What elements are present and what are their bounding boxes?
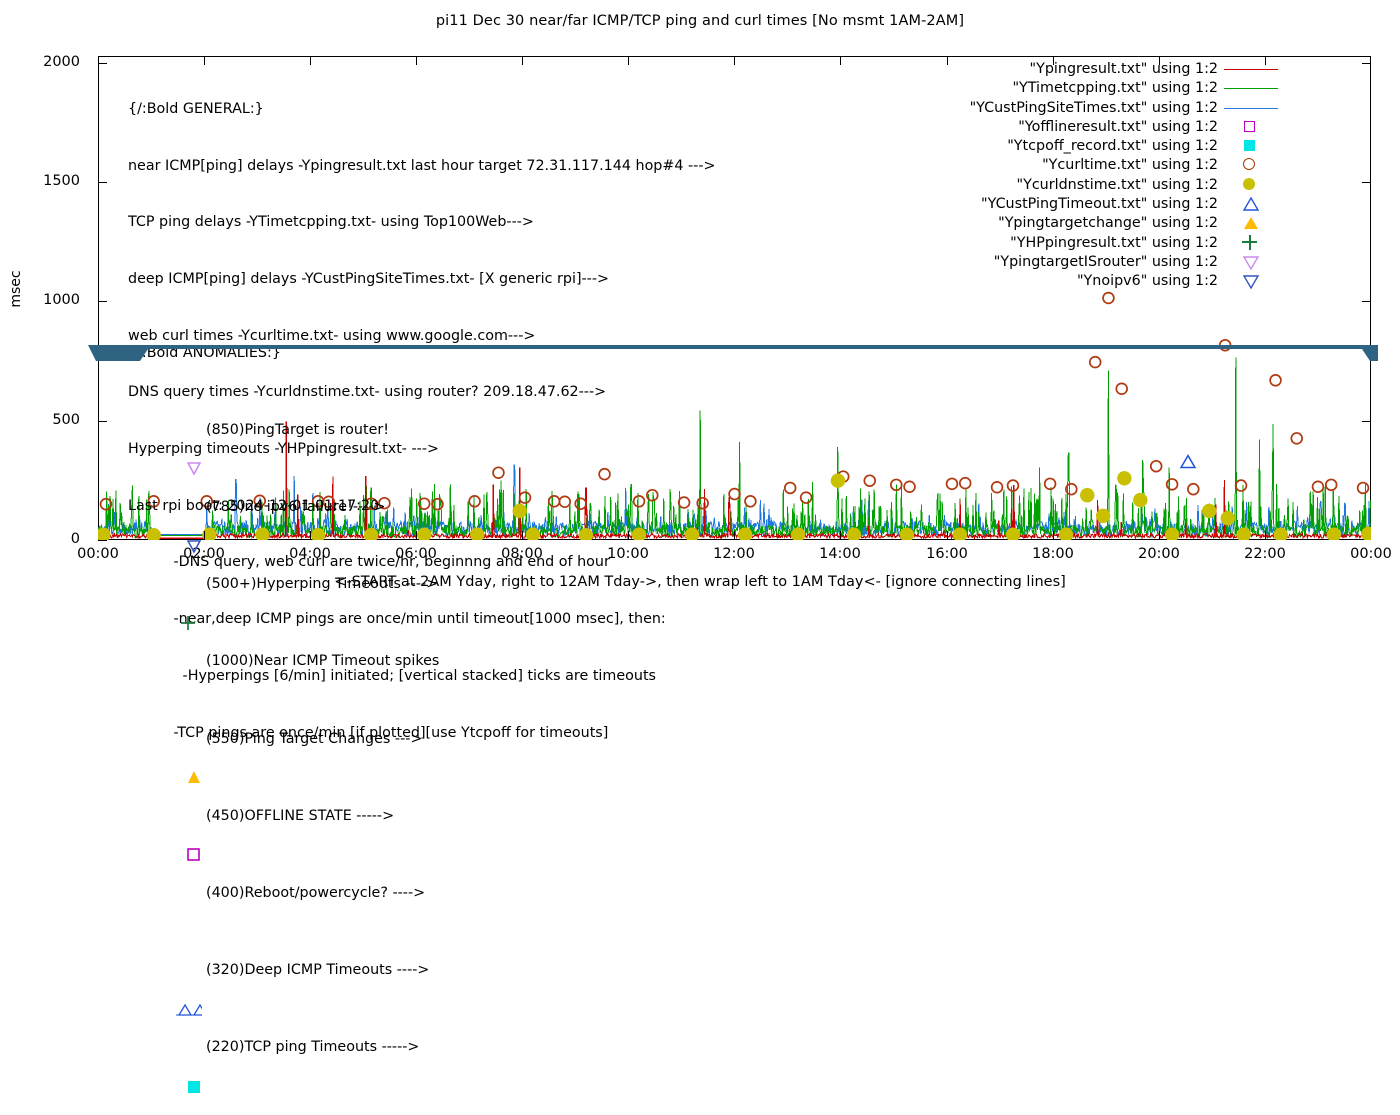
legend-key-triangle-down-open-violet [1222,253,1280,272]
anomaly-text-6: (400)Reboot/powercycle? ----> [206,884,425,903]
legend-label-5: "Ycurltime.txt" using 1:2 [1042,156,1218,175]
anomaly-row-1: (785)no ipv6 failure!----> [128,498,648,517]
y-tick-label-2000: 2000 [10,54,80,70]
anomaly-text-4: (550)Ping Target Changes ---> [206,730,422,749]
triangle-down-blue-icon [128,498,202,517]
legend-key-triangle-down-open-blue [1222,272,1280,291]
annotation-line-1: TCP ping delays -YTimetcpping.txt- using… [128,213,888,232]
y-tick-label-1500: 1500 [10,173,80,189]
legend-label-6: "Ycurldnstime.txt" using 1:2 [1017,176,1218,195]
legend-key-triangle-up-filled-orange [1222,214,1280,233]
legend-row-2: "YCustPingSiteTimes.txt" using 1:2 [940,99,1280,118]
x-tick-mark [1159,531,1160,540]
legend-label-2: "YCustPingSiteTimes.txt" using 1:2 [970,99,1218,118]
legend-label-10: "YpingtargetISrouter" using 1:2 [994,253,1218,272]
legend: "Ypingresult.txt" using 1:2 "YTimetcppin… [940,60,1280,292]
legend-key-triangle-up-open-blue [1222,195,1280,214]
legend-key-line-green [1222,79,1280,98]
anomaly-text-5: (450)OFFLINE STATE -----> [206,807,394,826]
x-tick-label-8: 16:00 [907,546,987,562]
legend-row-11: "Ynoipv6" using 1:2 [940,272,1280,291]
annotation-line-0: near ICMP[ping] delays -Ypingresult.txt … [128,157,888,176]
anomaly-row-6: (400)Reboot/powercycle? ----> [128,884,648,903]
anomaly-row-0: (850)PingTarget is router! [128,421,648,440]
square-magenta-icon [128,807,202,826]
legend-row-8: "Ypingtargetchange" using 1:2 [940,214,1280,233]
legend-label-1: "YTimetcpping.txt" using 1:2 [1012,79,1218,98]
legend-label-11: "Ynoipv6" using 1:2 [1077,272,1218,291]
legend-row-10: "YpingtargetISrouter" using 1:2 [940,253,1280,272]
x-tick-label-10: 20:00 [1119,546,1199,562]
legend-key-line-blue [1222,99,1280,118]
x-tick-label-12: 00:00 [1331,546,1400,562]
overlay-banner [88,345,1378,361]
anomaly-text-0: (850)PingTarget is router! [206,421,389,440]
legend-label-9: "YHPpingresult.txt" using 1:2 [1010,234,1218,253]
triangle-up-orange-icon [128,730,202,749]
anomaly-text-7: (320)Deep ICMP Timeouts ----> [206,961,429,980]
legend-label-4: "Ytcpoff_record.txt" using 1:2 [1007,137,1218,156]
anomaly-row-8: (220)TCP ping Timeouts -----> [128,1038,648,1057]
y-tick-label-0: 0 [10,531,80,547]
y-tick-label-1000: 1000 [10,292,80,308]
legend-key-circle-filled-olive [1222,176,1280,195]
y-tick-mark [98,540,107,541]
legend-key-plus-green [1222,234,1280,253]
legend-key-square-filled-cyan [1222,137,1280,156]
legend-row-5: "Ycurltime.txt" using 1:2 [940,156,1280,175]
legend-label-0: "Ypingresult.txt" using 1:2 [1030,60,1218,79]
general-header: {/:Bold GENERAL:} [128,100,888,119]
legend-key-line-red [1222,60,1280,79]
legend-row-0: "Ypingresult.txt" using 1:2 [940,60,1280,79]
legend-label-8: "Ypingtargetchange" using 1:2 [998,214,1218,233]
anomaly-row-3: (1000)Near ICMP Timeout spikes [128,652,648,671]
triangle-up-blue-icon [128,961,202,980]
legend-label-3: "Yofflineresult.txt" using 1:2 [1018,118,1218,137]
y-axis-label: msec [8,259,24,319]
anomaly-text-1: (785)no ipv6 failure!----> [206,498,385,517]
anomaly-text-2: (500+)Hyperping Timeouts ----> [206,575,438,594]
legend-row-1: "YTimetcpping.txt" using 1:2 [940,79,1280,98]
anomaly-row-2: (500+)Hyperping Timeouts ----> [128,575,648,594]
legend-row-7: "YCustPingTimeout.txt" using 1:2 [940,195,1280,214]
anomaly-row-4: (550)Ping Target Changes ---> [128,730,648,749]
legend-row-6: "Ycurldnstime.txt" using 1:2 [940,176,1280,195]
anomaly-text-3: (1000)Near ICMP Timeout spikes [206,652,439,671]
x-tick-mark [1053,531,1054,540]
x-tick-mark [1265,531,1266,540]
y-tick-label-500: 500 [10,412,80,428]
legend-row-3: "Yofflineresult.txt" using 1:2 [940,118,1280,137]
legend-row-4: "Ytcpoff_record.txt" using 1:2 [940,137,1280,156]
annotation-line-2: deep ICMP[ping] delays -YCustPingSiteTim… [128,270,888,289]
anomaly-annotations: {/:Bold ANOMALIES:} (850)PingTarget is r… [128,305,648,1077]
anomaly-row-5: (450)OFFLINE STATE -----> [128,807,648,826]
plus-green-icon [128,575,202,594]
triangle-down-violet-icon [128,421,202,440]
legend-row-9: "YHPpingresult.txt" using 1:2 [940,234,1280,253]
legend-key-circle-open-brown [1222,156,1280,175]
anomaly-text-8: (220)TCP ping Timeouts -----> [206,1038,419,1057]
square-cyan-icon [128,1038,202,1057]
anomaly-row-7: (320)Deep ICMP Timeouts ----> [128,961,648,980]
chart-title: pi11 Dec 30 near/far ICMP/TCP ping and c… [0,13,1400,29]
x-tick-label-11: 22:00 [1225,546,1305,562]
x-tick-label-0: 00:00 [58,546,138,562]
legend-key-square-open-magenta [1222,118,1280,137]
x-tick-mark [947,531,948,540]
x-tick-label-9: 18:00 [1013,546,1093,562]
legend-label-7: "YCustPingTimeout.txt" using 1:2 [981,195,1218,214]
